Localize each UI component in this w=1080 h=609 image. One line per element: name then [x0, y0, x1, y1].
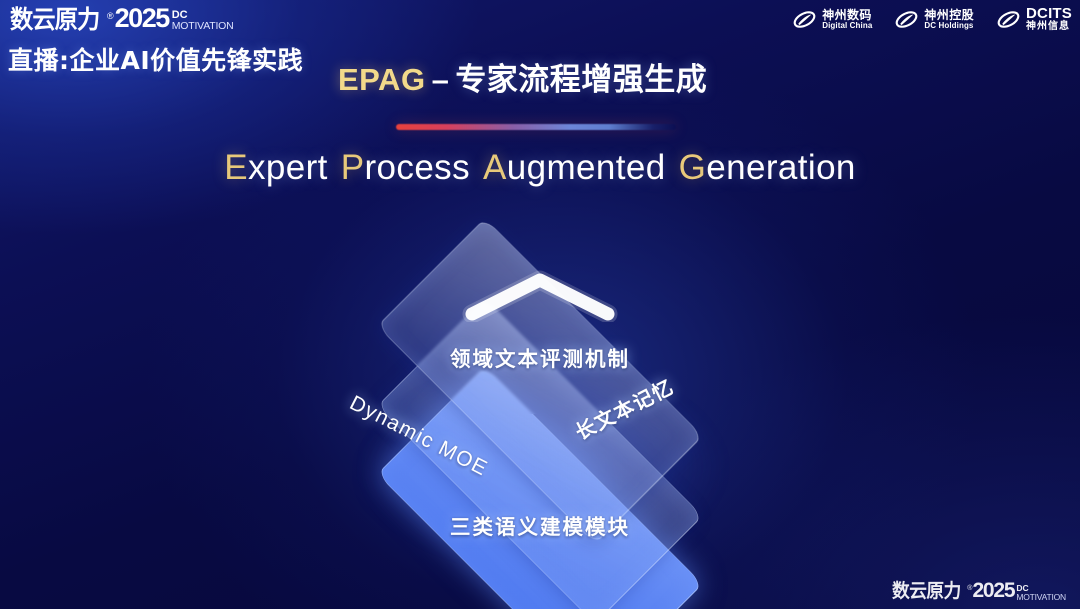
slide-subtitle: ExpertProcessAugmentedGeneration	[0, 148, 1080, 188]
watermark-motivation-label: MOTIVATION	[1016, 593, 1066, 602]
title-acronym: EPAG	[338, 62, 426, 97]
presentation-slide: 数云原力 ® 2025 DC MOTIVATION 直播:企业AI价值先锋实践 …	[0, 0, 1080, 609]
subtitle-rest-4: eneration	[706, 148, 856, 187]
title-chinese: 专家流程增强生成	[455, 62, 707, 98]
subtitle-cap-3: A	[483, 148, 507, 187]
partner-name-en: 神州信息	[1026, 22, 1072, 33]
subtitle-rest-3: ugmented	[507, 148, 666, 187]
layer-stack-diagram: 领域文本评测机制 Dynamic MOE 长文本记忆 三类语义建模模块	[258, 222, 822, 567]
brand-year: 2025	[115, 5, 169, 32]
brand-registered-mark: ®	[107, 12, 114, 21]
partner-name-cn: DCITS	[1026, 6, 1072, 22]
slide-title: EPAG–专家流程增强生成	[338, 54, 707, 99]
partner-logo-dc-holdings: 神州控股 DC Holdings	[894, 7, 974, 32]
footer-watermark-logo: 数云原力 ® 2025 DC MOTIVATION	[892, 580, 1066, 601]
watermark-dc-block: DC MOTIVATION	[1016, 584, 1066, 601]
partner-name-en: Digital China	[822, 22, 872, 31]
partner-logo-text: 神州数码 Digital China	[822, 9, 872, 31]
partner-logo-text: 神州控股 DC Holdings	[924, 9, 974, 31]
partner-name-cn: 神州控股	[924, 9, 974, 22]
brand-dc-block: DC MOTIVATION	[172, 10, 234, 32]
partner-logo-bar: 神州数码 Digital China 神州控股 DC Holdings	[792, 6, 1072, 33]
subtitle-cap-1: E	[224, 148, 248, 187]
watermark-name-cn: 数云原力	[892, 582, 961, 601]
title-dash: –	[426, 62, 456, 97]
brand-logo: 数云原力 ® 2025 DC MOTIVATION	[8, 2, 428, 32]
partner-name-cn: 神州数码	[822, 9, 872, 22]
swoosh-logo-icon	[792, 7, 817, 32]
subtitle-rest-2: rocess	[365, 148, 471, 187]
watermark-registered-mark: ®	[967, 585, 972, 592]
stack-layer-top[interactable]	[381, 222, 699, 540]
brand-name-cn: 数云原力	[10, 7, 99, 32]
swoosh-logo-icon	[996, 7, 1021, 32]
layer-face	[377, 218, 703, 544]
partner-logo-digital-china: 神州数码 Digital China	[792, 7, 872, 32]
brand-dc-label: DC	[172, 10, 234, 21]
partner-name-en: DC Holdings	[924, 22, 974, 31]
brand-motivation-label: MOTIVATION	[172, 21, 234, 32]
partner-logo-text: DCITS 神州信息	[1026, 6, 1072, 33]
partner-logo-dcits: DCITS 神州信息	[996, 6, 1072, 33]
subtitle-cap-4: G	[679, 148, 707, 187]
accent-divider-line	[396, 124, 676, 130]
subtitle-rest-1: xpert	[248, 148, 328, 187]
watermark-year: 2025	[972, 580, 1014, 601]
subtitle-cap-2: P	[341, 148, 365, 187]
swoosh-logo-icon	[894, 7, 919, 32]
